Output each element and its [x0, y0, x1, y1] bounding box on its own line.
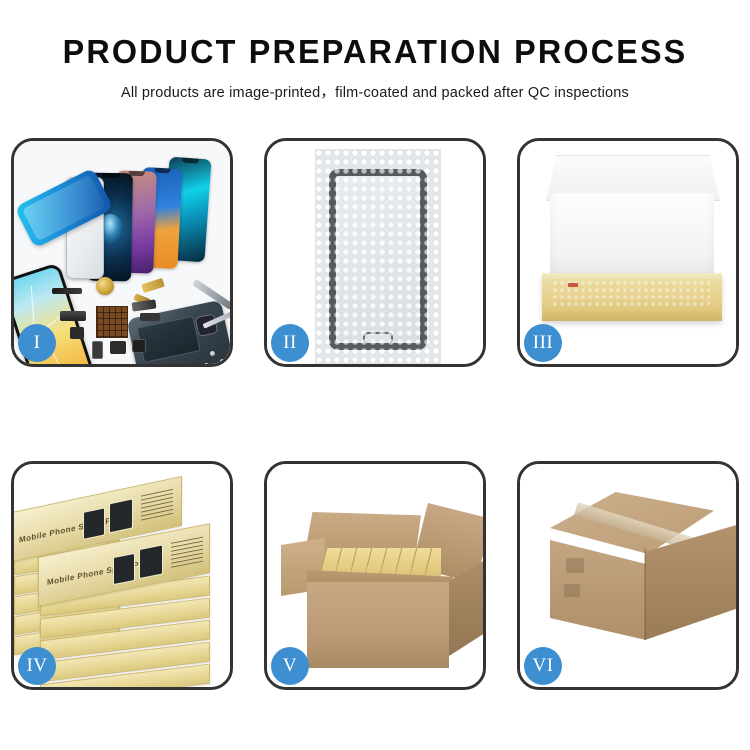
chip-array-icon [96, 306, 128, 338]
box-print-screen-image [109, 498, 133, 533]
wrapped-screen-in-box [552, 280, 710, 306]
vibration-coil-icon [96, 277, 114, 295]
small-camera-icon [132, 339, 146, 353]
speaker-icon [110, 341, 126, 354]
phone-notch-icon [154, 168, 170, 174]
screw-icon [220, 359, 225, 364]
step-numeral-badge: III [524, 324, 562, 362]
carton-hand-tab [566, 558, 584, 573]
step-numeral-badge: IV [18, 647, 56, 685]
connector-icon [60, 311, 86, 321]
carton-vertical-seam [644, 548, 646, 640]
process-step-grid: I II III [11, 138, 739, 690]
side-button-icon [92, 341, 103, 359]
carton-hand-tab [564, 584, 580, 597]
flex-cable-icon [52, 288, 82, 294]
process-step-panel-4: Mobile Phone Spare Parts Mobile Phone Sp… [11, 461, 233, 690]
process-step-panel-2: II [264, 138, 486, 367]
phone-notch-icon [182, 158, 199, 164]
carton-front-face [307, 582, 449, 668]
box-front-side [542, 308, 722, 321]
page-subtitle: All products are image-printed，film-coat… [0, 81, 750, 102]
box-print-screen-image [113, 553, 135, 585]
kraft-inner-box [542, 273, 722, 321]
label-mark [568, 283, 578, 287]
screw-icon [210, 351, 215, 356]
foam-padding [550, 193, 714, 279]
screw-icon [204, 363, 209, 364]
step-numeral-badge: I [18, 324, 56, 362]
step-numeral-badge: VI [524, 647, 562, 685]
process-step-panel-1: I [11, 138, 233, 367]
box-print-screen-image [139, 544, 163, 579]
page-title: PRODUCT PREPARATION PROCESS [8, 34, 743, 70]
process-step-panel-3: III [517, 138, 739, 367]
process-step-panel-5: V [264, 461, 486, 690]
logic-board [137, 316, 201, 363]
connector-icon [140, 313, 160, 321]
connector-icon [70, 327, 84, 339]
page-header: PRODUCT PREPARATION PROCESS All products… [0, 0, 750, 102]
step-numeral-badge: II [271, 324, 309, 362]
phone-screen-glass-icon [329, 169, 427, 350]
bubble-wrap-sheet [315, 149, 441, 364]
process-step-panel-6: VI [517, 461, 739, 690]
phone-notch-icon [102, 173, 120, 178]
box-print-screen-image [83, 507, 105, 540]
step-numeral-badge: V [271, 647, 309, 685]
